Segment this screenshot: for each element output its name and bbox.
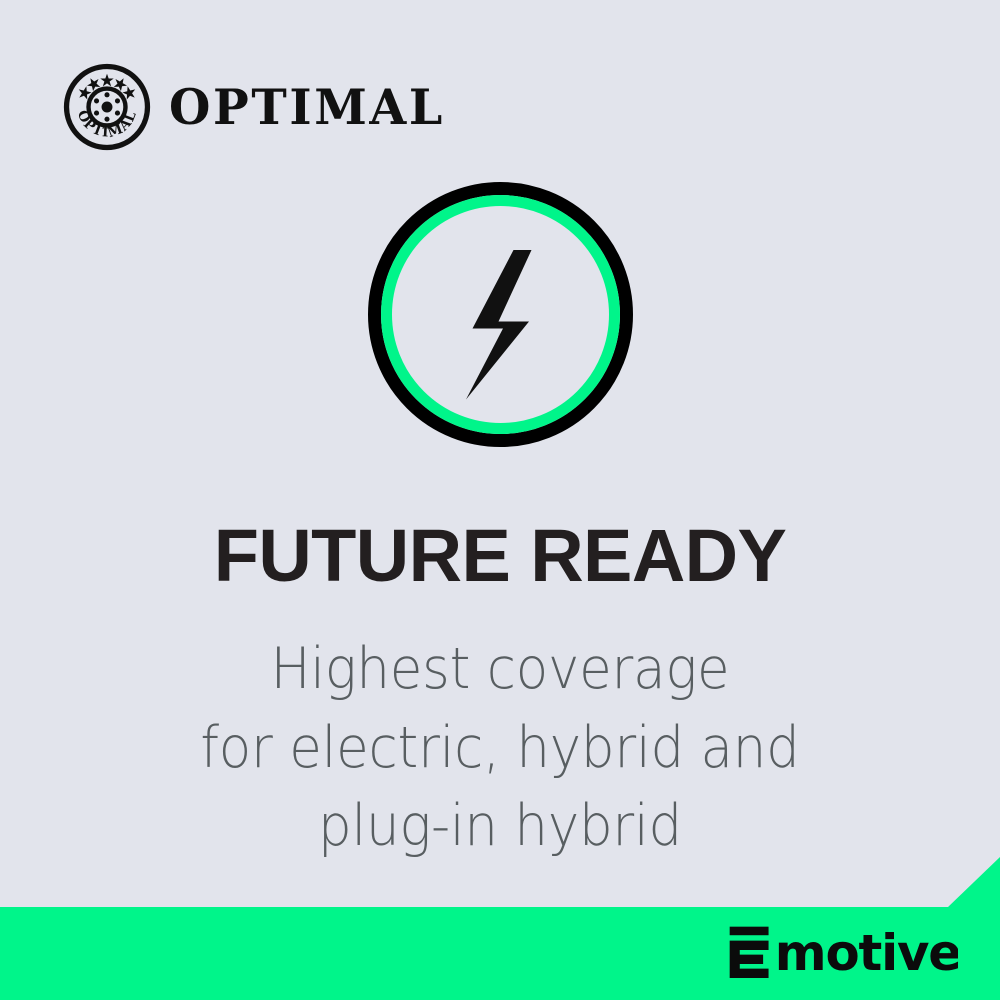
subtitle-block: Highest coverage for electric, hybrid an… (0, 630, 1000, 866)
brand-header: OPTIMAL OPTIMAL (63, 63, 454, 151)
optimal-circular-badge-icon: OPTIMAL (63, 63, 151, 151)
page-title: FUTURE READY (0, 519, 1000, 593)
lightning-bolt-in-circle-icon (368, 182, 633, 447)
subtitle-line-2: for electric, hybrid and (35, 709, 965, 788)
svg-text:OPTIMAL: OPTIMAL (74, 108, 140, 141)
hero-icon-container (368, 182, 633, 447)
badge-curved-label: OPTIMAL (74, 108, 140, 141)
subtitle-line-1: Highest coverage (35, 630, 965, 709)
poster-canvas: OPTIMAL OPTIMAL FUTURE READY Highest cov… (0, 0, 1000, 1000)
emotive-logo-text: motive (774, 924, 958, 978)
subtitle-line-3: plug-in hybrid (35, 787, 965, 866)
brand-wordmark: OPTIMAL (169, 83, 445, 132)
